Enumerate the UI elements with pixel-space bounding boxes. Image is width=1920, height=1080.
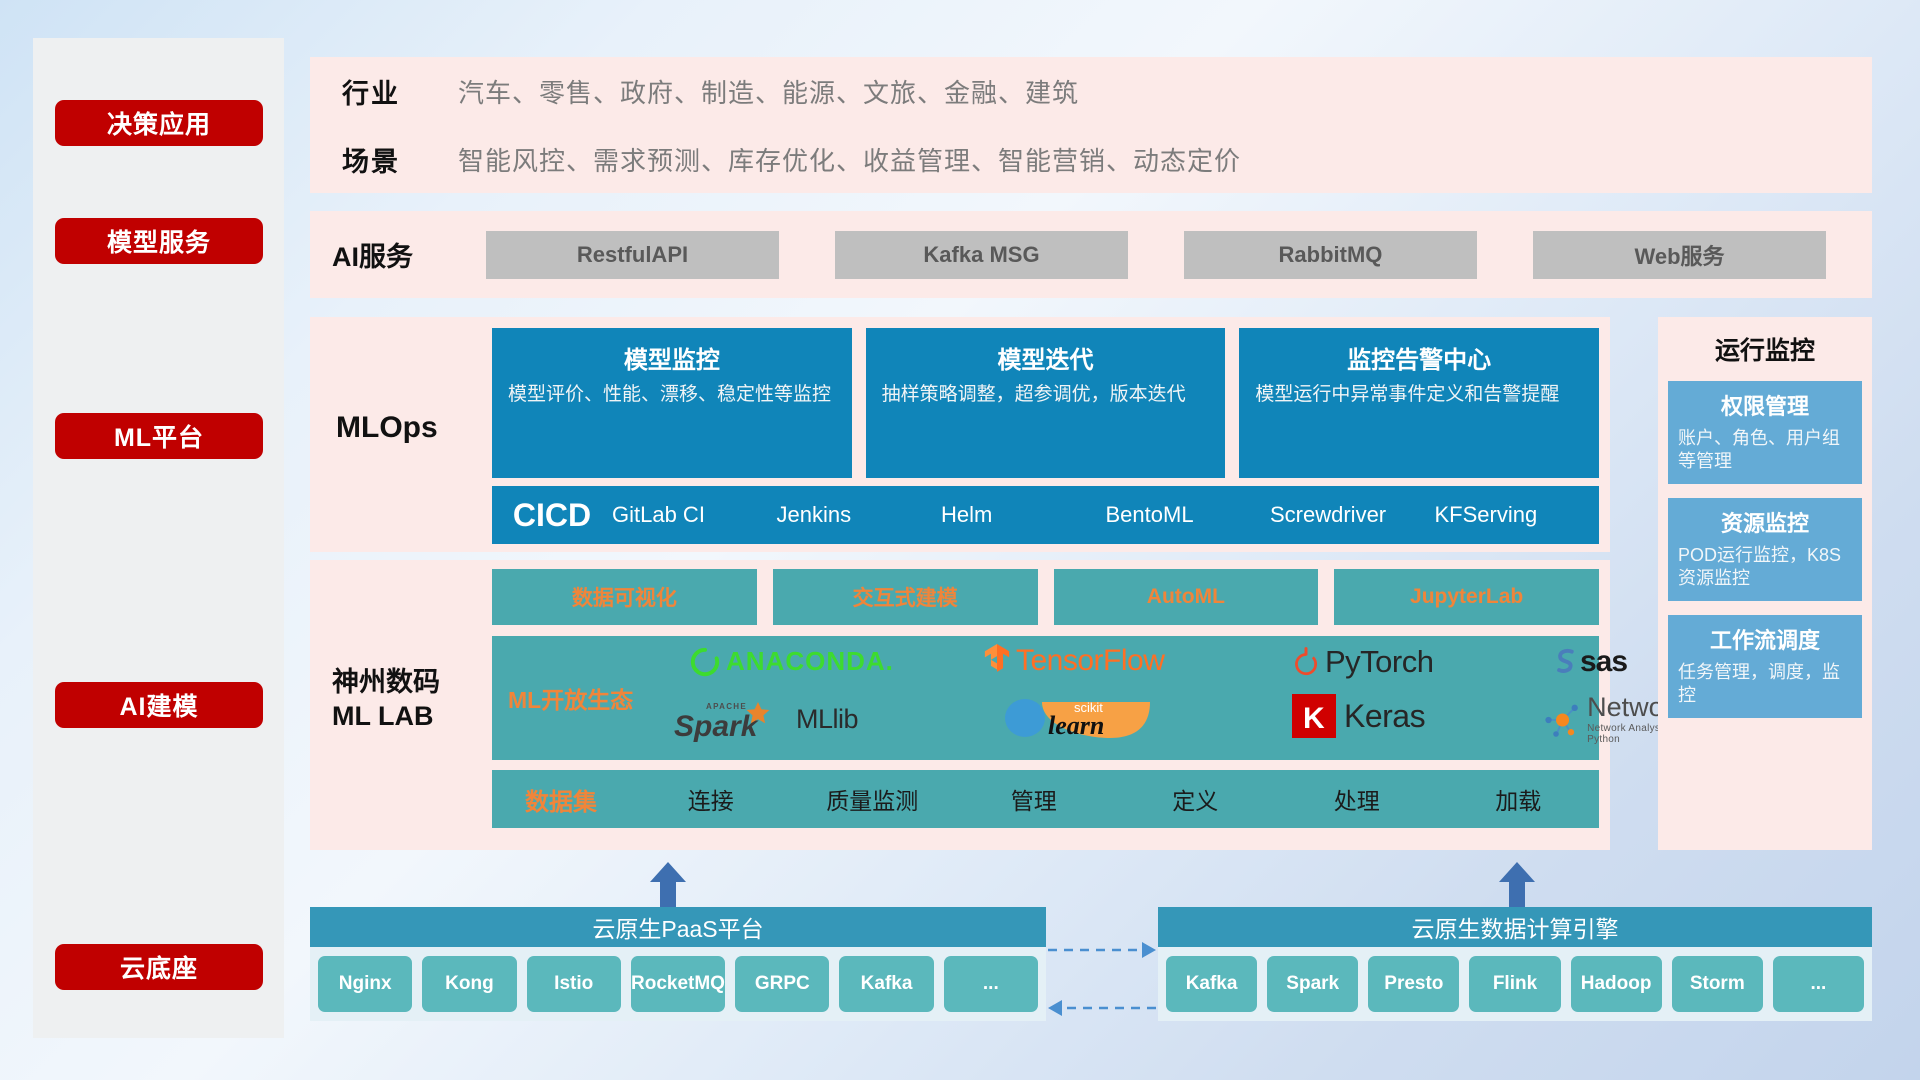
- dataset-band: 数据集 连接 质量监测 管理 定义 处理 加载: [492, 770, 1599, 828]
- decision-applications-panel: 行业 汽车、零售、政府、制造、能源、文旅、金融、建筑 场景 智能风控、需求预测、…: [310, 57, 1872, 193]
- mlops-card-alert-center[interactable]: 监控告警中心 模型运行中异常事件定义和告警提醒: [1239, 328, 1599, 478]
- cicd-item-list: GitLab CI Jenkins Helm BentoML Screwdriv…: [612, 504, 1599, 526]
- card-description: 模型评价、性能、漂移、稳定性等监控: [508, 383, 836, 408]
- card-description: 模型运行中异常事件定义和告警提醒: [1255, 383, 1583, 408]
- runtime-monitoring-title: 运行监控: [1658, 317, 1872, 367]
- anaconda-wordmark: ANACONDA.: [726, 646, 894, 677]
- bidirectional-flow-arrows: [1046, 930, 1158, 1040]
- cicd-bar: CICD GitLab CI Jenkins Helm BentoML Scre…: [492, 486, 1599, 544]
- keras-logo: K Keras: [1292, 694, 1425, 738]
- dashed-arrows-icon: [1046, 930, 1158, 1040]
- dataset-item-define[interactable]: 定义: [1115, 782, 1277, 816]
- industry-label: 行业: [342, 72, 458, 111]
- cloud-native-compute-chip-list: Kafka Spark Presto Flink Hadoop Storm ..…: [1158, 947, 1872, 1021]
- mlops-card-list: 模型监控 模型评价、性能、漂移、稳定性等监控 模型迭代 抽样策略调整，超参调优，…: [492, 328, 1599, 478]
- ai-service-chip-kafka-msg[interactable]: Kafka MSG: [835, 231, 1128, 279]
- svg-text:Spark: Spark: [674, 710, 759, 742]
- ml-lab-label-line2: ML LAB: [332, 700, 440, 734]
- sas-icon: [1552, 647, 1580, 677]
- cicd-item-bentoml[interactable]: BentoML: [1106, 504, 1271, 526]
- stage-chip-model-svc[interactable]: 模型服务: [55, 218, 263, 264]
- ecosystem-logo-group: ANACONDA. TensorFlow PyTorch: [652, 636, 1599, 760]
- cloud-chip-nginx[interactable]: Nginx: [318, 956, 412, 1012]
- pytorch-icon: [1292, 646, 1320, 678]
- cloud-native-compute-title: 云原生数据计算引擎: [1158, 907, 1872, 947]
- ai-service-chip-restfulapi[interactable]: RestfulAPI: [486, 231, 779, 279]
- stage-chip-ml-platform[interactable]: ML平台: [55, 413, 263, 459]
- upward-arrow-right: [1497, 862, 1537, 902]
- tool-chip-data-visualization[interactable]: 数据可视化: [492, 569, 757, 625]
- tensorflow-logo: TensorFlow: [982, 644, 1164, 678]
- dataset-item-manage[interactable]: 管理: [953, 782, 1115, 816]
- ai-modeling-panel: 神州数码 ML LAB 数据可视化 交互式建模 AutoML JupyterLa…: [310, 560, 1610, 850]
- mlops-card-model-iteration[interactable]: 模型迭代 抽样策略调整，超参调优，版本迭代: [866, 328, 1226, 478]
- cloud-chip-istio[interactable]: Istio: [527, 956, 621, 1012]
- cloud-chip-grpc[interactable]: GRPC: [735, 956, 829, 1012]
- networkx-icon: [1542, 698, 1583, 742]
- anaconda-icon: [690, 647, 720, 677]
- cloud-native-paas-group: 云原生PaaS平台 Nginx Kong Istio RocketMQ GRPC…: [310, 907, 1046, 1021]
- monitoring-card-workflow[interactable]: 工作流调度 任务管理，调度，监控: [1668, 615, 1862, 718]
- card-title: 模型迭代: [882, 340, 1210, 375]
- scenario-values: 智能风控、需求预测、库存优化、收益管理、智能营销、动态定价: [458, 141, 1241, 178]
- card-description: 账户、角色、用户组等管理: [1678, 427, 1852, 473]
- cloud-chip-rocketmq[interactable]: RocketMQ: [631, 956, 725, 1012]
- compute-chip-presto[interactable]: Presto: [1368, 956, 1459, 1012]
- cicd-item-jenkins[interactable]: Jenkins: [777, 504, 942, 526]
- dataset-item-quality[interactable]: 质量监测: [792, 782, 954, 816]
- tool-chip-interactive-modeling[interactable]: 交互式建模: [773, 569, 1038, 625]
- tool-chip-automl[interactable]: AutoML: [1054, 569, 1319, 625]
- stage-chip-ai-modeling[interactable]: AI建模: [55, 682, 263, 728]
- modeling-tool-list: 数据可视化 交互式建模 AutoML JupyterLab: [492, 569, 1599, 625]
- cicd-item-helm[interactable]: Helm: [941, 504, 1106, 526]
- cloud-native-paas-title: 云原生PaaS平台: [310, 907, 1046, 947]
- svg-text:learn: learn: [1048, 711, 1104, 740]
- ai-service-chip-list: RestfulAPI Kafka MSG RabbitMQ Web服务: [458, 231, 1872, 279]
- sas-wordmark: sas: [1580, 645, 1627, 679]
- dataset-title: 数据集: [492, 782, 630, 817]
- compute-chip-hadoop[interactable]: Hadoop: [1571, 956, 1662, 1012]
- pytorch-wordmark: PyTorch: [1325, 644, 1433, 680]
- compute-chip-storm[interactable]: Storm: [1672, 956, 1763, 1012]
- mlops-card-model-monitoring[interactable]: 模型监控 模型评价、性能、漂移、稳定性等监控: [492, 328, 852, 478]
- cloud-chip-more[interactable]: ...: [944, 956, 1038, 1012]
- cicd-item-gitlab-ci[interactable]: GitLab CI: [612, 504, 777, 526]
- ml-open-ecosystem-band: ML开放生态 ANACONDA. TensorFlow: [492, 636, 1599, 760]
- mlops-label: MLOps: [336, 411, 438, 445]
- anaconda-logo: ANACONDA.: [690, 646, 894, 677]
- card-description: POD运行监控，K8S资源监控: [1678, 544, 1852, 590]
- card-title: 工作流调度: [1678, 623, 1852, 655]
- sas-logo: sas: [1552, 645, 1627, 679]
- ml-open-ecosystem-label: ML开放生态: [492, 681, 652, 715]
- compute-chip-kafka[interactable]: Kafka: [1166, 956, 1257, 1012]
- tool-chip-jupyterlab[interactable]: JupyterLab: [1334, 569, 1599, 625]
- cloud-chip-kafka[interactable]: Kafka: [839, 956, 933, 1012]
- dataset-item-process[interactable]: 处理: [1276, 782, 1438, 816]
- industry-values: 汽车、零售、政府、制造、能源、文旅、金融、建筑: [458, 73, 1079, 110]
- scikit-learn-wordmark-icon: scikit learn: [1038, 694, 1156, 742]
- ml-lab-label-line1: 神州数码: [332, 666, 440, 700]
- arrow-up-icon: [648, 862, 688, 908]
- dataset-item-load[interactable]: 加载: [1438, 782, 1600, 816]
- stage-chip-cloud-base[interactable]: 云底座: [55, 944, 263, 990]
- ml-lab-label: 神州数码 ML LAB: [332, 666, 440, 734]
- card-title: 权限管理: [1678, 389, 1852, 421]
- card-description: 抽样策略调整，超参调优，版本迭代: [882, 383, 1210, 408]
- compute-chip-spark[interactable]: Spark: [1267, 956, 1358, 1012]
- arrow-up-icon: [1497, 862, 1537, 908]
- cloud-chip-kong[interactable]: Kong: [422, 956, 516, 1012]
- dataset-item-connect[interactable]: 连接: [630, 782, 792, 816]
- upward-arrow-left: [648, 862, 688, 902]
- mllib-wordmark: MLlib: [796, 704, 858, 735]
- dataset-item-list: 连接 质量监测 管理 定义 处理 加载: [630, 782, 1599, 816]
- compute-chip-more[interactable]: ...: [1773, 956, 1864, 1012]
- svg-text:K: K: [1303, 702, 1325, 735]
- cicd-item-screwdriver[interactable]: Screwdriver: [1270, 504, 1435, 526]
- monitoring-card-resources[interactable]: 资源监控 POD运行监控，K8S资源监控: [1668, 498, 1862, 601]
- pytorch-logo: PyTorch: [1292, 644, 1433, 680]
- monitoring-card-permissions[interactable]: 权限管理 账户、角色、用户组等管理: [1668, 381, 1862, 484]
- scenario-row: 场景 智能风控、需求预测、库存优化、收益管理、智能营销、动态定价: [310, 125, 1872, 193]
- cicd-title: CICD: [492, 497, 612, 534]
- ai-service-panel: AI服务 RestfulAPI Kafka MSG RabbitMQ Web服务: [310, 211, 1872, 298]
- ai-service-chip-rabbitmq[interactable]: RabbitMQ: [1184, 231, 1477, 279]
- card-description: 任务管理，调度，监控: [1678, 661, 1852, 707]
- tensorflow-icon: [982, 644, 1012, 678]
- runtime-monitoring-panel: 运行监控 权限管理 账户、角色、用户组等管理 资源监控 POD运行监控，K8S资…: [1658, 317, 1872, 850]
- ai-service-chip-web[interactable]: Web服务: [1533, 231, 1826, 279]
- spark-icon: APACHE Spark: [672, 696, 792, 742]
- cicd-item-kfserving[interactable]: KFServing: [1435, 504, 1600, 526]
- scenario-label: 场景: [342, 140, 458, 179]
- industry-row: 行业 汽车、零售、政府、制造、能源、文旅、金融、建筑: [310, 57, 1872, 125]
- tensorflow-wordmark: TensorFlow: [1016, 644, 1164, 678]
- stage-chip-decision[interactable]: 决策应用: [55, 100, 263, 146]
- mlops-panel: MLOps 模型监控 模型评价、性能、漂移、稳定性等监控 模型迭代 抽样策略调整…: [310, 317, 1610, 552]
- stage-rail: 决策应用 模型服务 ML平台 AI建模 云底座: [33, 38, 284, 1038]
- compute-chip-flink[interactable]: Flink: [1469, 956, 1560, 1012]
- card-title: 模型监控: [508, 340, 836, 375]
- keras-icon: K: [1292, 694, 1336, 738]
- scikit-learn-logo: scikit learn: [1004, 694, 1156, 742]
- keras-wordmark: Keras: [1344, 698, 1425, 735]
- cloud-native-paas-chip-list: Nginx Kong Istio RocketMQ GRPC Kafka ...: [310, 947, 1046, 1021]
- card-title: 监控告警中心: [1255, 340, 1583, 375]
- spark-mllib-logo: APACHE Spark MLlib: [672, 696, 858, 742]
- card-title: 资源监控: [1678, 506, 1852, 538]
- ai-service-label: AI服务: [310, 235, 458, 274]
- cloud-native-compute-group: 云原生数据计算引擎 Kafka Spark Presto Flink Hadoo…: [1158, 907, 1872, 1021]
